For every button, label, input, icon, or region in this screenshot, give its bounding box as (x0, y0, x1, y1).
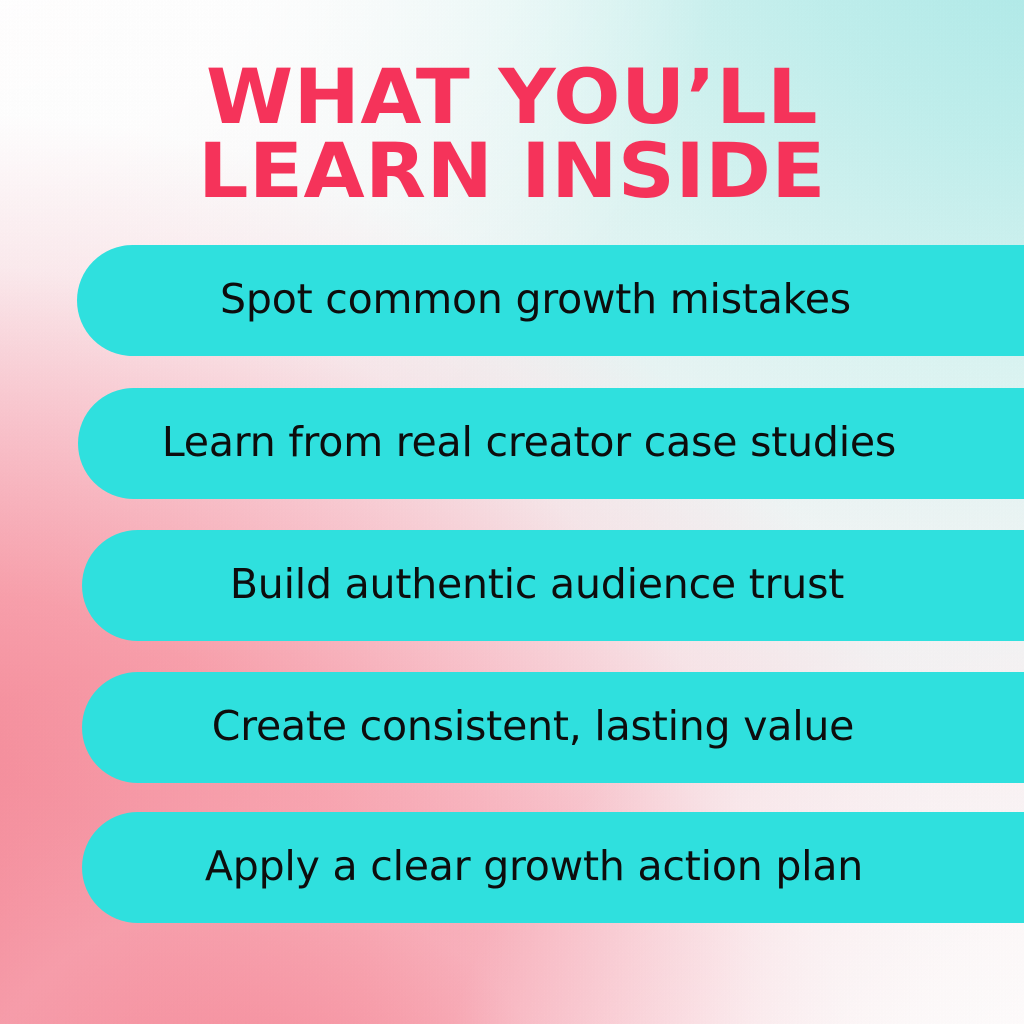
promo-poster: WHAT YOU’LL LEARN INSIDE Spot common gro… (0, 0, 1024, 1024)
list-item[interactable]: Build authentic audience trust (82, 530, 1024, 641)
headline-block: WHAT YOU’LL LEARN INSIDE (0, 62, 1024, 206)
list-item-label: Build authentic audience trust (82, 564, 1024, 605)
list-item-label: Create consistent, lasting value (82, 706, 1024, 747)
list-item[interactable]: Spot common growth mistakes (77, 245, 1024, 356)
headline-line-2: LEARN INSIDE (0, 136, 1024, 206)
list-item-label: Apply a clear growth action plan (82, 846, 1024, 887)
list-item-label: Spot common growth mistakes (77, 279, 1024, 320)
list-item-label: Learn from real creator case studies (78, 422, 1024, 463)
list-item[interactable]: Create consistent, lasting value (82, 672, 1024, 783)
list-item[interactable]: Apply a clear growth action plan (82, 812, 1024, 923)
headline-line-1: WHAT YOU’LL (0, 62, 1024, 132)
list-item[interactable]: Learn from real creator case studies (78, 388, 1024, 499)
